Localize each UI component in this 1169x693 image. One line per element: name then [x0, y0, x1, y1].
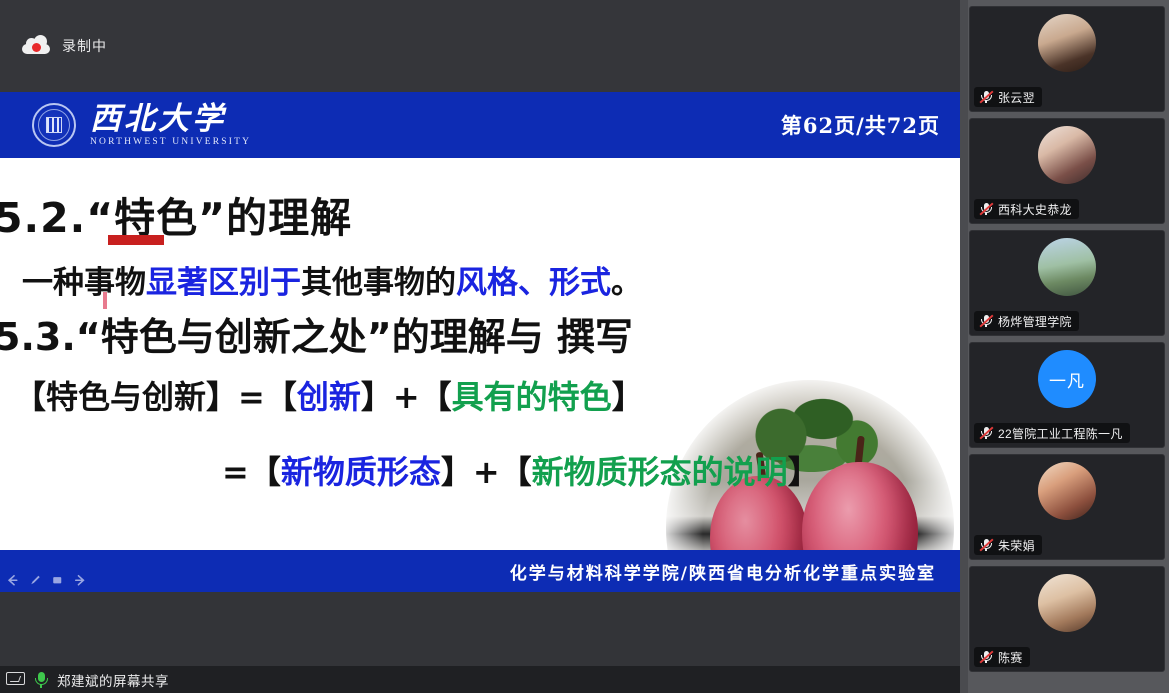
university-seal-icon	[32, 103, 76, 147]
microphone-muted-icon	[979, 202, 993, 216]
slide-equation-2: =【新物质形态】+【新物质形态的说明】	[222, 447, 820, 493]
slide-page-counter: 第62页/共72页	[781, 110, 940, 140]
avatar: 一凡	[1038, 350, 1096, 408]
screen-share-owner-label: 郑建斌的屏幕共享	[57, 670, 169, 690]
eq2-part-3: 】	[788, 453, 820, 491]
participant-name-chip: 朱荣娟	[974, 535, 1042, 555]
arrow-left-icon[interactable]	[6, 574, 19, 588]
eq1-part-2: 】+【	[361, 378, 452, 416]
recording-cloud-icon	[22, 38, 50, 54]
avatar	[1038, 238, 1096, 296]
participant-name-chip: 杨烨管理学院	[974, 311, 1079, 331]
participant-name: 陈赛	[998, 649, 1023, 666]
square-icon[interactable]	[51, 574, 64, 588]
participant-name-chip: 西科大史恭龙	[974, 199, 1079, 219]
microphone-muted-icon	[979, 90, 993, 104]
pen-icon[interactable]	[29, 574, 42, 588]
avatar	[1038, 126, 1096, 184]
definition-suffix: 。	[611, 265, 642, 301]
slide-body: 5.2.“特色”的理解 一种事物显著区别于其他事物的风格、形式。 5.3.“特色…	[0, 158, 960, 550]
microphone-unmuted-icon[interactable]	[34, 672, 48, 688]
participant-tile[interactable]: 西科大史恭龙	[969, 118, 1165, 224]
participant-name-chip: 陈赛	[974, 647, 1030, 667]
slide-footer-text: 化学与材料科学学院/陕西省电分析化学重点实验室	[510, 559, 936, 584]
eq1-part-3: 】	[612, 378, 644, 416]
shared-screen-area: 录制中 西北大学 NORTHWEST UNIVERSITY 第62页/共72页	[0, 0, 960, 693]
eq2-part-2: 】+【	[441, 453, 532, 491]
recording-label: 录制中	[62, 36, 107, 56]
participant-tile[interactable]: 杨烨管理学院	[969, 230, 1165, 336]
annotation-toolbar[interactable]	[0, 570, 86, 592]
eq1-blue-term: 创新	[297, 378, 361, 416]
participant-tile[interactable]: 张云翌	[969, 6, 1165, 112]
avatar	[1038, 462, 1096, 520]
screen-share-status-bar: 郑建斌的屏幕共享	[0, 666, 960, 693]
participant-tile[interactable]: 朱荣娟	[969, 454, 1165, 560]
participant-tile[interactable]: 陈赛	[969, 566, 1165, 672]
avatar	[1038, 574, 1096, 632]
eq1-green-term: 具有的特色	[452, 378, 612, 416]
eq2-green-term: 新物质形态的说明	[532, 453, 788, 491]
participant-name: 张云翌	[998, 89, 1035, 106]
slide-header: 西北大学 NORTHWEST UNIVERSITY 第62页/共72页	[0, 92, 960, 158]
screen-share-icon[interactable]	[6, 672, 25, 687]
university-name-en: NORTHWEST UNIVERSITY	[90, 137, 251, 147]
participant-panel[interactable]: 张云翌 西科大史恭龙 杨烨管理学院 一凡	[960, 0, 1169, 693]
slide-heading-5-2: 5.2.“特色”的理解	[0, 184, 352, 244]
definition-blue-2: 风格、形式	[456, 265, 611, 301]
microphone-muted-icon	[979, 650, 993, 664]
eq2-part-1: =【	[222, 453, 281, 491]
presentation-slide: 西北大学 NORTHWEST UNIVERSITY 第62页/共72页 5.2.…	[0, 92, 960, 592]
participant-name: 22管院工业工程陈一凡	[998, 425, 1123, 442]
participant-name-chip: 22管院工业工程陈一凡	[974, 423, 1130, 443]
definition-mid: 其他事物的	[301, 265, 456, 301]
participant-tile[interactable]: 一凡 22管院工业工程陈一凡	[969, 342, 1165, 448]
university-branding: 西北大学 NORTHWEST UNIVERSITY	[32, 103, 251, 147]
red-underline-mark	[108, 235, 164, 245]
university-name-cn: 西北大学	[90, 104, 251, 135]
microphone-muted-icon	[979, 426, 993, 440]
slide-equation-1: 【特色与创新】=【创新】+【具有的特色】	[14, 372, 644, 418]
slide-footer: 化学与材料科学学院/陕西省电分析化学重点实验室	[0, 550, 960, 592]
arrow-right-icon[interactable]	[74, 574, 87, 588]
meeting-window: 录制中 西北大学 NORTHWEST UNIVERSITY 第62页/共72页	[0, 0, 1169, 693]
eq2-blue-term: 新物质形态	[281, 453, 441, 491]
participant-name: 西科大史恭龙	[998, 201, 1072, 218]
microphone-muted-icon	[979, 314, 993, 328]
microphone-muted-icon	[979, 538, 993, 552]
definition-blue-1: 显著区别于	[146, 265, 301, 301]
participant-name: 杨烨管理学院	[998, 313, 1072, 330]
participant-name: 朱荣娟	[998, 537, 1035, 554]
participant-name-chip: 张云翌	[974, 87, 1042, 107]
slide-heading-5-3: 5.3.“特色与创新之处”的理解与 撰写	[0, 306, 633, 361]
recording-indicator-bar: 录制中	[0, 0, 960, 92]
slide-definition-line: 一种事物显著区别于其他事物的风格、形式。	[22, 257, 642, 302]
eq1-part-1: 【特色与创新】=【	[14, 378, 297, 416]
definition-prefix: 一种事物	[22, 265, 146, 301]
avatar	[1038, 14, 1096, 72]
